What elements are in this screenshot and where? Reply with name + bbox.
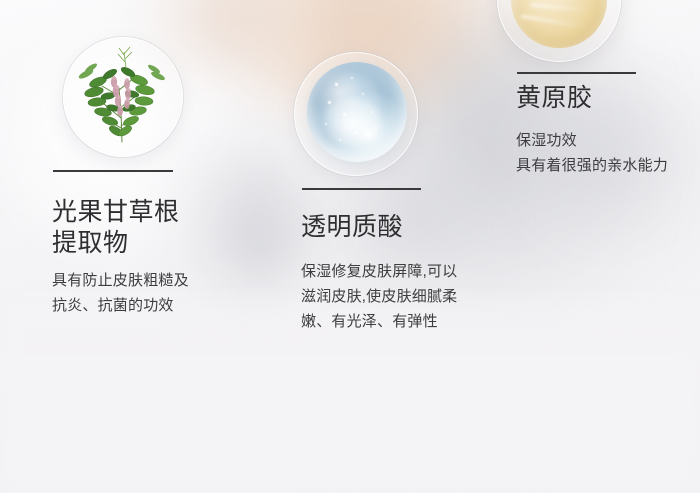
sparkle [325, 123, 327, 125]
ingredient-title: 黄原胶 [516, 83, 696, 114]
ingredient-description: 保湿修复皮肤屏障,可以 滋润皮肤,使皮肤细腻柔 嫩、有光泽、有弹性 [301, 259, 501, 334]
ingredient-title: 透明质酸 [301, 212, 501, 243]
sparkle [335, 83, 338, 86]
divider-rule [517, 72, 636, 74]
ingredient-title: 光果甘草根 提取物 [52, 197, 262, 259]
divider-rule [53, 170, 173, 172]
golden-gel-disc-icon [497, 0, 621, 62]
sparkle [328, 101, 331, 104]
sparkle [343, 113, 346, 116]
background-bottom-soft [170, 330, 600, 460]
sparkle [355, 131, 358, 134]
divider-rule [302, 188, 421, 190]
ingredient-showcase-page: 光果甘草根 提取物 具有防止皮肤粗糙及 抗炎、抗菌的功效 透明质酸 保湿修复皮肤… [0, 0, 700, 493]
sparkle [339, 139, 341, 141]
water-droplet-sphere-icon [294, 52, 418, 176]
sparkle [362, 93, 364, 95]
sparkle [371, 111, 373, 113]
sparkle [375, 127, 377, 129]
sparkle [351, 77, 353, 79]
gum-streak [521, 15, 587, 28]
gum-streak [531, 3, 589, 11]
ingredient-description: 保湿功效 具有着很强的亲水能力 [516, 128, 700, 178]
licorice-plant-illustration-icon [63, 37, 183, 157]
ingredient-description: 具有防止皮肤粗糙及 抗炎、抗菌的功效 [52, 268, 267, 318]
droplet-core-glow [323, 97, 381, 145]
gum-disc-body [511, 0, 607, 48]
